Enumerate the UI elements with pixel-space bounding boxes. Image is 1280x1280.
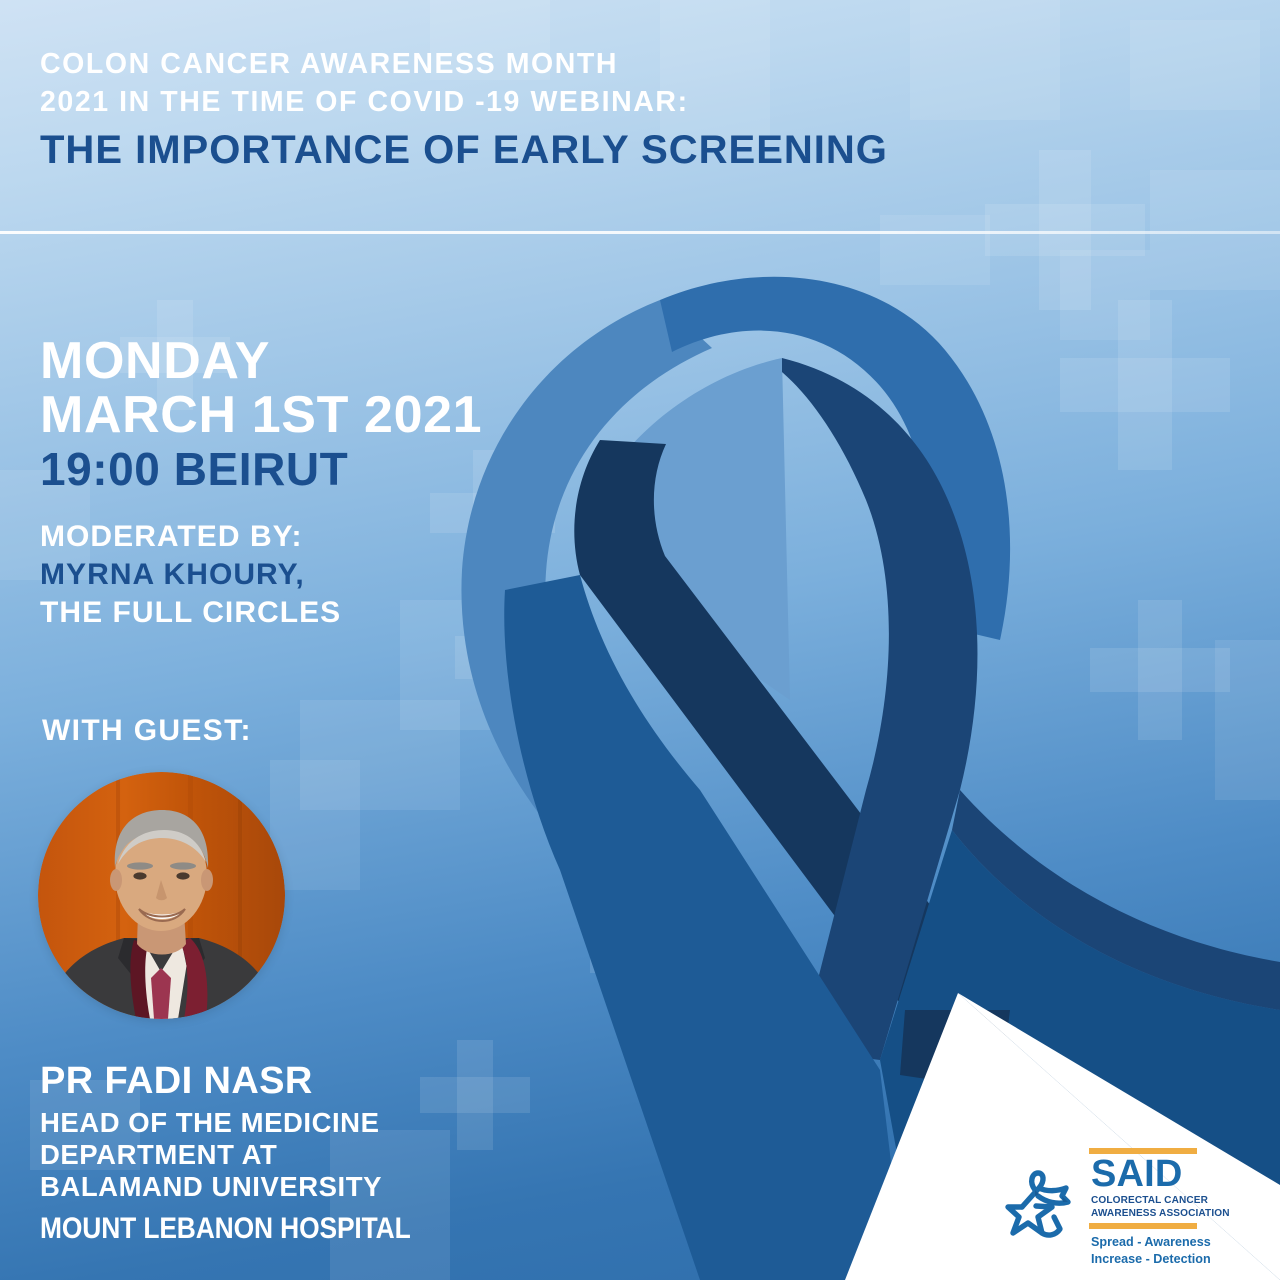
guest-portrait-avatar [38,772,285,1019]
logo-bottom-bar [1089,1223,1197,1229]
logo-subtitle-line-1: COLORECTAL CANCER [1091,1194,1194,1207]
said-ribbon-star-icon [1002,1167,1076,1247]
guest-name: PR FADI NASR [40,1060,560,1103]
logo-tagline-line-2: Increase - Detection [1091,1251,1197,1267]
event-date: MARCH 1ST 2021 [40,388,560,442]
poster-canvas: COLON CANCER AWARENESS MONTH 2021 IN THE… [0,0,1280,1280]
poster-title: THE IMPORTANCE OF EARLY SCREENING [40,126,1100,175]
event-day: MONDAY [40,334,560,388]
guest-role-line-2: DEPARTMENT AT [40,1139,560,1171]
guest-role-line-3: BALAMAND UNIVERSITY [40,1171,560,1203]
event-info-block: MONDAY MARCH 1ST 2021 19:00 BEIRUT MODER… [40,334,560,633]
logo-name: SAID [1091,1156,1197,1193]
header-line-2: 2021 IN THE TIME OF COVID -19 WEBINAR: [40,84,1100,122]
guest-details-block: PR FADI NASR HEAD OF THE MEDICINE DEPART… [40,1060,560,1246]
with-guest-label: WITH GUEST: [42,714,252,748]
portrait-illustration [38,772,285,1019]
guest-role-line-1: HEAD OF THE MEDICINE [40,1107,560,1139]
poster-header: COLON CANCER AWARENESS MONTH 2021 IN THE… [40,46,1100,175]
header-divider [0,231,1280,234]
said-logo: SAID COLORECTAL CANCER AWARENESS ASSOCIA… [1002,1148,1197,1267]
event-time: 19:00 BEIRUT [40,444,560,496]
moderator-name: MYRNA KHOURY, [40,556,560,594]
said-logo-text: SAID COLORECTAL CANCER AWARENESS ASSOCIA… [1089,1148,1197,1267]
header-line-1: COLON CANCER AWARENESS MONTH [40,46,1100,84]
moderated-by-label: MODERATED BY: [40,518,560,556]
logo-tagline-line-1: Spread - Awareness [1091,1234,1197,1250]
guest-hospital: MOUNT LEBANON HOSPITAL [40,1212,498,1247]
logo-subtitle-line-2: AWARENESS ASSOCIATION [1091,1207,1194,1220]
moderator-organization: THE FULL CIRCLES [40,594,560,632]
